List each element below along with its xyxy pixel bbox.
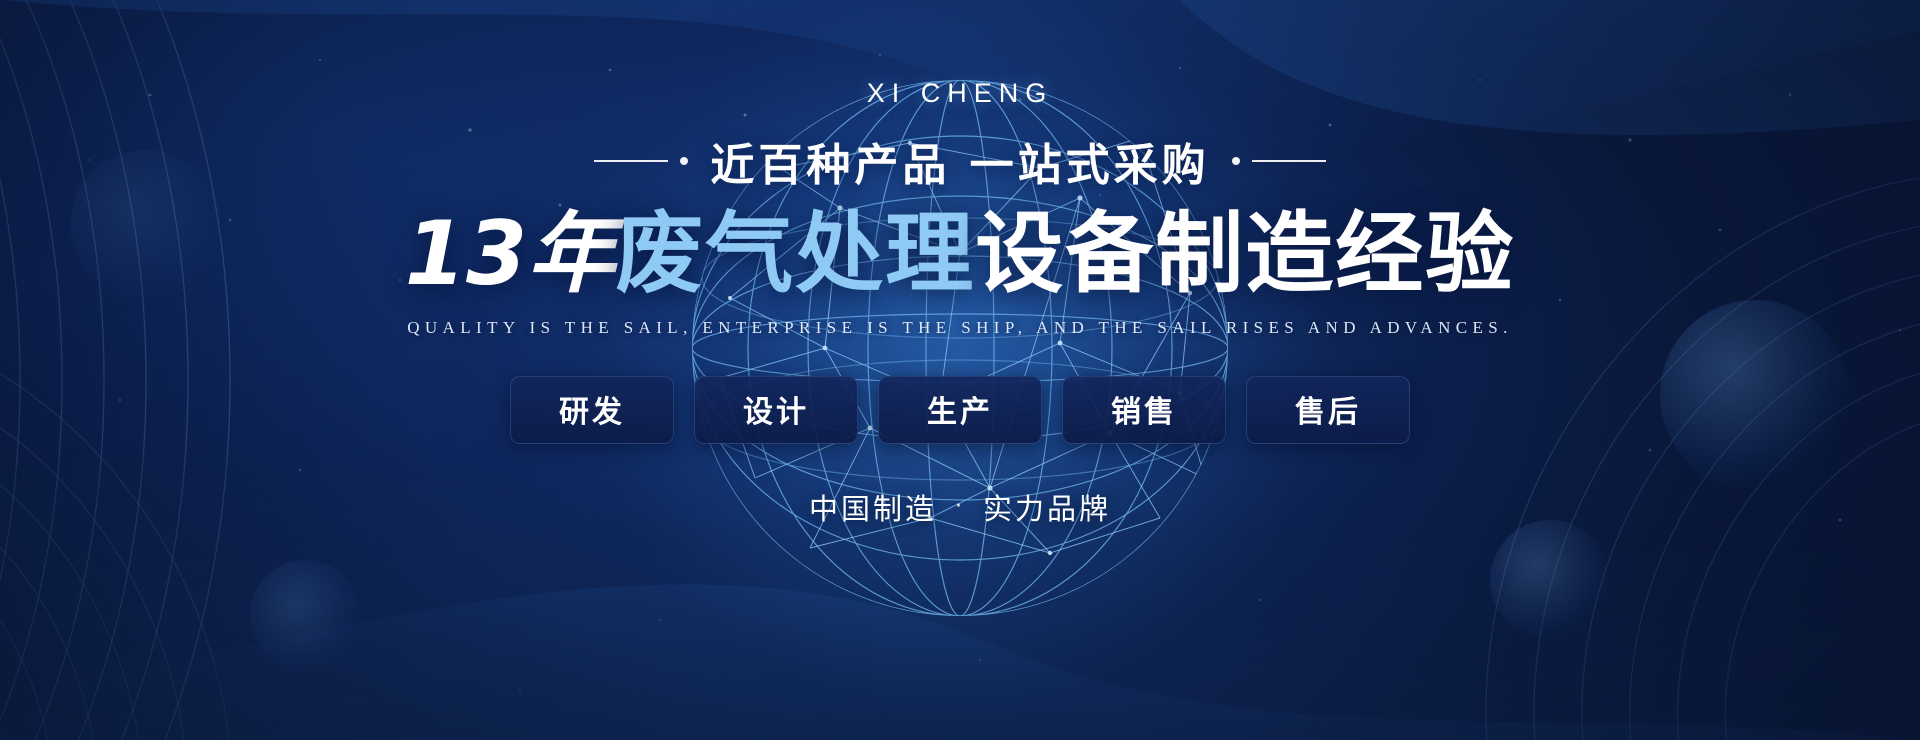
service-tag-sales[interactable]: 销售 bbox=[1062, 376, 1226, 444]
service-tag-aftersales[interactable]: 售后 bbox=[1246, 376, 1410, 444]
brand-name-en: XI CHENG bbox=[867, 78, 1054, 109]
footer-slogan: 中国制造 · 实力品牌 bbox=[809, 486, 1111, 528]
decorative-bar-icon bbox=[1252, 160, 1326, 162]
banner-subtitle: 近百种产品 一站式采购 bbox=[710, 129, 1209, 193]
banner-headline: 13年废气处理设备制造经验 bbox=[405, 205, 1516, 304]
hero-banner: XI CHENG 近百种产品 一站式采购 13年废气处理设备制造经验 QUALI… bbox=[0, 0, 1920, 740]
headline-years: 13年 bbox=[405, 202, 615, 305]
banner-content: XI CHENG 近百种产品 一站式采购 13年废气处理设备制造经验 QUALI… bbox=[0, 0, 1920, 740]
decorative-dot-icon bbox=[680, 157, 688, 165]
decorative-bar-icon bbox=[594, 160, 668, 162]
service-tag-produce[interactable]: 生产 bbox=[878, 376, 1042, 444]
headline-accent: 废气处理 bbox=[615, 202, 975, 305]
footer-slogan-left: 中国制造 bbox=[809, 486, 937, 528]
subtitle-row: 近百种产品 一站式采购 bbox=[594, 129, 1325, 193]
service-tag-rd[interactable]: 研发 bbox=[510, 376, 674, 444]
english-tagline: QUALITY IS THE SAIL, ENTERPRISE IS THE S… bbox=[407, 318, 1513, 338]
headline-tail: 设备制造经验 bbox=[975, 202, 1515, 305]
service-tag-design[interactable]: 设计 bbox=[694, 376, 858, 444]
decorative-line-left bbox=[594, 157, 688, 165]
footer-separator-icon: · bbox=[955, 494, 965, 519]
service-tag-list: 研发 设计 生产 销售 售后 bbox=[510, 376, 1410, 444]
footer-slogan-right: 实力品牌 bbox=[983, 486, 1111, 528]
decorative-line-right bbox=[1232, 157, 1326, 165]
decorative-dot-icon bbox=[1232, 157, 1240, 165]
